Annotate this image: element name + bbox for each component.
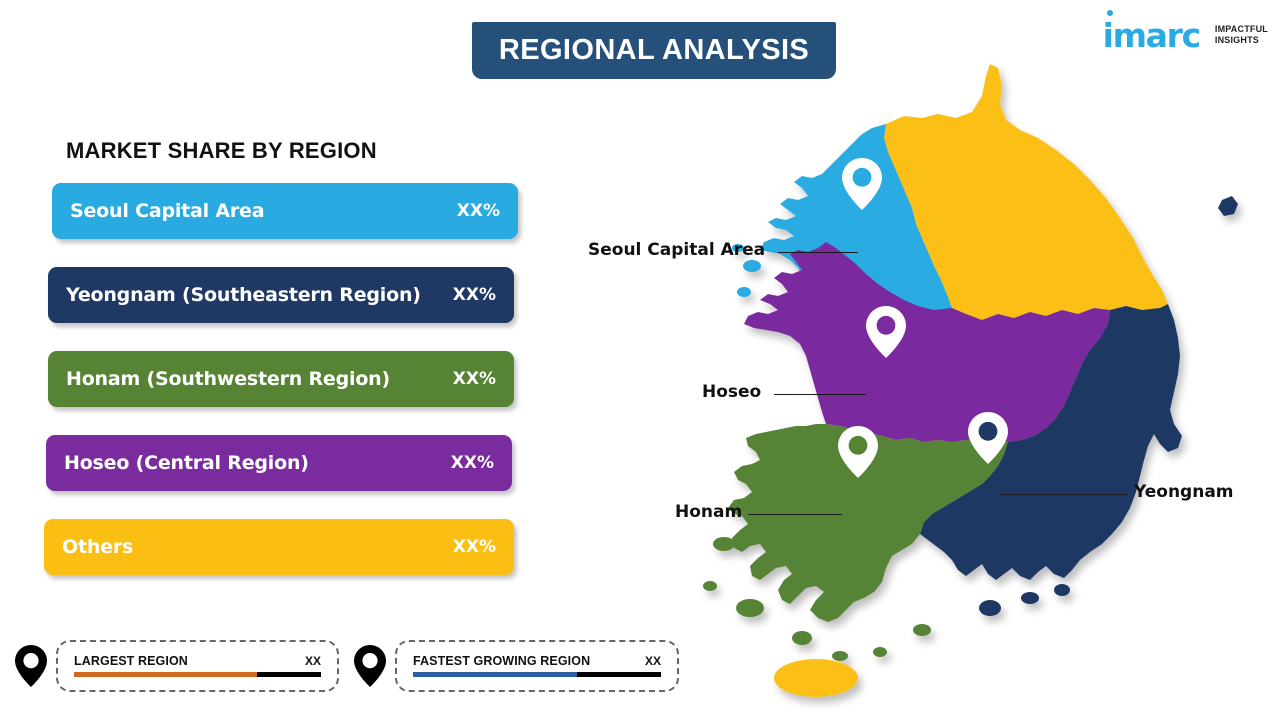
leader-line-seoul (778, 252, 858, 253)
logo-tagline-line1: IMPACTFUL (1215, 24, 1268, 35)
bar-value: XX% (453, 285, 496, 305)
map-island-honam-5 (873, 647, 887, 657)
map-island-honam-2 (736, 599, 764, 617)
bar-row-honam[interactable]: Honam (Southwestern Region) XX% (48, 351, 514, 407)
logo-wordmark: imarc (1103, 19, 1200, 52)
legend-box-fastest: FASTEST GROWING REGION XX (395, 640, 679, 692)
bar-row-others[interactable]: Others XX% (44, 519, 514, 575)
logo-tagline: IMPACTFUL INSIGHTS (1215, 24, 1268, 47)
map-island-honam-1 (713, 537, 735, 551)
map-island-honam-7 (703, 581, 717, 591)
map-pin-icon (14, 644, 48, 688)
legend-largest-region: LARGEST REGION XX (14, 640, 339, 692)
bar-label: Hoseo (Central Region) (64, 452, 309, 474)
bar-value: XX% (453, 369, 496, 389)
map-island-jeju[interactable] (774, 659, 858, 697)
bar-value: XX% (451, 453, 494, 473)
bar-row-yeongnam[interactable]: Yeongnam (Southeastern Region) XX% (48, 267, 514, 323)
legend-box-largest: LARGEST REGION XX (56, 640, 339, 692)
legend-fastest-growing-region: FASTEST GROWING REGION XX (353, 640, 679, 692)
legend-progress-track (74, 672, 321, 677)
market-share-heading: MARKET SHARE BY REGION (66, 138, 377, 164)
map-island-honam-3 (792, 631, 812, 645)
map-island-honam-6 (913, 624, 931, 636)
bar-label: Seoul Capital Area (70, 200, 264, 222)
map-island-yeongnam-3 (1054, 584, 1070, 596)
map-island-honam-4 (832, 651, 848, 661)
leader-line-honam (748, 514, 842, 515)
legend-title: LARGEST REGION (74, 654, 188, 668)
legend-progress-fill (74, 672, 257, 677)
bar-label: Yeongnam (Southeastern Region) (66, 284, 421, 306)
map-island-seoul-1 (743, 260, 761, 272)
map-island-ulleungdo (1218, 196, 1238, 216)
logo-dot-icon (1107, 10, 1113, 16)
legend-value: XX (305, 654, 321, 668)
logo-wordmark-text: imarc (1103, 16, 1200, 55)
legend-progress-track (413, 672, 661, 677)
map-island-seoul-3 (737, 287, 751, 297)
map-pin-icon (353, 644, 387, 688)
bar-value: XX% (457, 201, 500, 221)
map-label-hoseo: Hoseo (702, 382, 761, 402)
leader-line-hoseo (774, 394, 866, 395)
footer-legend: LARGEST REGION XX FASTEST GROWING REGION… (14, 640, 679, 692)
map-label-seoul-capital-area: Seoul Capital Area (588, 240, 765, 260)
market-share-bar-list: Seoul Capital Area XX% Yeongnam (Southea… (0, 183, 540, 603)
map-island-yeongnam-1 (979, 600, 1001, 616)
bar-label: Others (62, 536, 133, 558)
leader-line-yeongnam (1000, 494, 1128, 495)
bar-label: Honam (Southwestern Region) (66, 368, 390, 390)
south-korea-region-map: Seoul Capital Area Hoseo Honam Yeongnam (690, 52, 1270, 712)
legend-title: FASTEST GROWING REGION (413, 654, 590, 668)
map-svg (690, 52, 1270, 712)
map-label-yeongnam: Yeongnam (1134, 482, 1234, 502)
legend-value: XX (645, 654, 661, 668)
map-island-yeongnam-2 (1021, 592, 1039, 604)
bar-row-hoseo[interactable]: Hoseo (Central Region) XX% (46, 435, 512, 491)
logo-tagline-line2: INSIGHTS (1215, 35, 1268, 46)
bar-row-seoul-capital-area[interactable]: Seoul Capital Area XX% (52, 183, 518, 239)
legend-progress-fill (413, 672, 577, 677)
bar-value: XX% (453, 537, 496, 557)
map-label-honam: Honam (675, 502, 742, 522)
